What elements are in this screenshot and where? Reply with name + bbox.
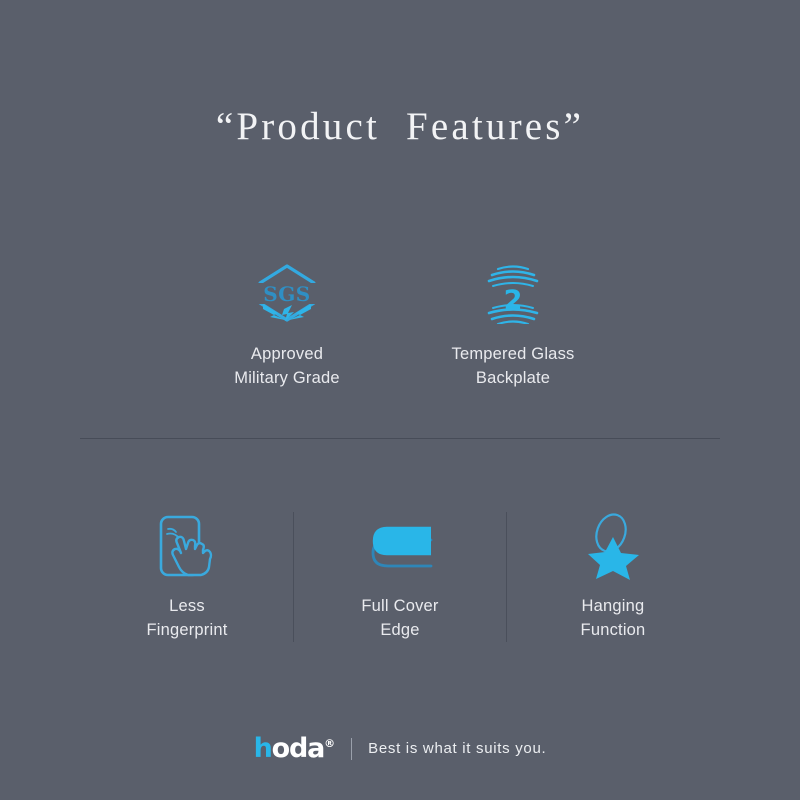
bottom-feature-row: Less Fingerprint Full Cover Edge [0, 510, 800, 642]
hanging-star-tag-icon [583, 510, 643, 582]
top-feature-row: SGS Approved Military Grade [0, 258, 800, 390]
feature-caption: Less Fingerprint [146, 594, 227, 642]
brand-logo-rest: oda [272, 733, 325, 764]
feature-less-fingerprint: Less Fingerprint [81, 510, 293, 642]
product-features-banner: “Product Features” SGS Approved Militar [0, 0, 800, 800]
feature-hanging-function: Hanging Function [507, 510, 719, 642]
footer: hoda® Best is what it suits you. [0, 735, 800, 762]
feature-caption: Full Cover Edge [361, 594, 438, 642]
layered-glass-2-icon: 2 [480, 258, 546, 330]
registered-trademark-icon: ® [324, 737, 335, 750]
curved-edge-glass-icon-svg [365, 520, 435, 572]
svg-text:SGS: SGS [263, 282, 310, 306]
feature-caption: Hanging Function [581, 594, 646, 642]
svg-text:2: 2 [504, 285, 523, 316]
feature-caption: Tempered Glass Backplate [452, 342, 575, 390]
footer-separator [351, 738, 352, 760]
brand-tagline: Best is what it suits you. [368, 740, 546, 757]
layered-glass-2-icon-svg: 2 [480, 264, 546, 324]
feature-full-cover-edge: Full Cover Edge [294, 510, 506, 642]
hanging-star-tag-icon-svg [583, 512, 643, 580]
sgs-certification-icon: SGS [254, 258, 320, 330]
feature-tempered-glass-backplate: 2 Tempered Glass Backplate [438, 258, 588, 390]
sgs-certification-icon-svg: SGS [254, 263, 320, 325]
phone-touch-fingerprint-icon-svg [155, 513, 219, 579]
section-divider [80, 438, 720, 439]
brand-logo: hoda® [254, 735, 336, 762]
curved-edge-glass-icon [365, 510, 435, 582]
feature-caption: Approved Military Grade [234, 342, 340, 390]
feature-approved-military-grade: SGS Approved Military Grade [212, 258, 362, 390]
brand-logo-lead: h [254, 733, 272, 764]
page-title: “Product Features” [0, 104, 800, 149]
phone-touch-fingerprint-icon [155, 510, 219, 582]
